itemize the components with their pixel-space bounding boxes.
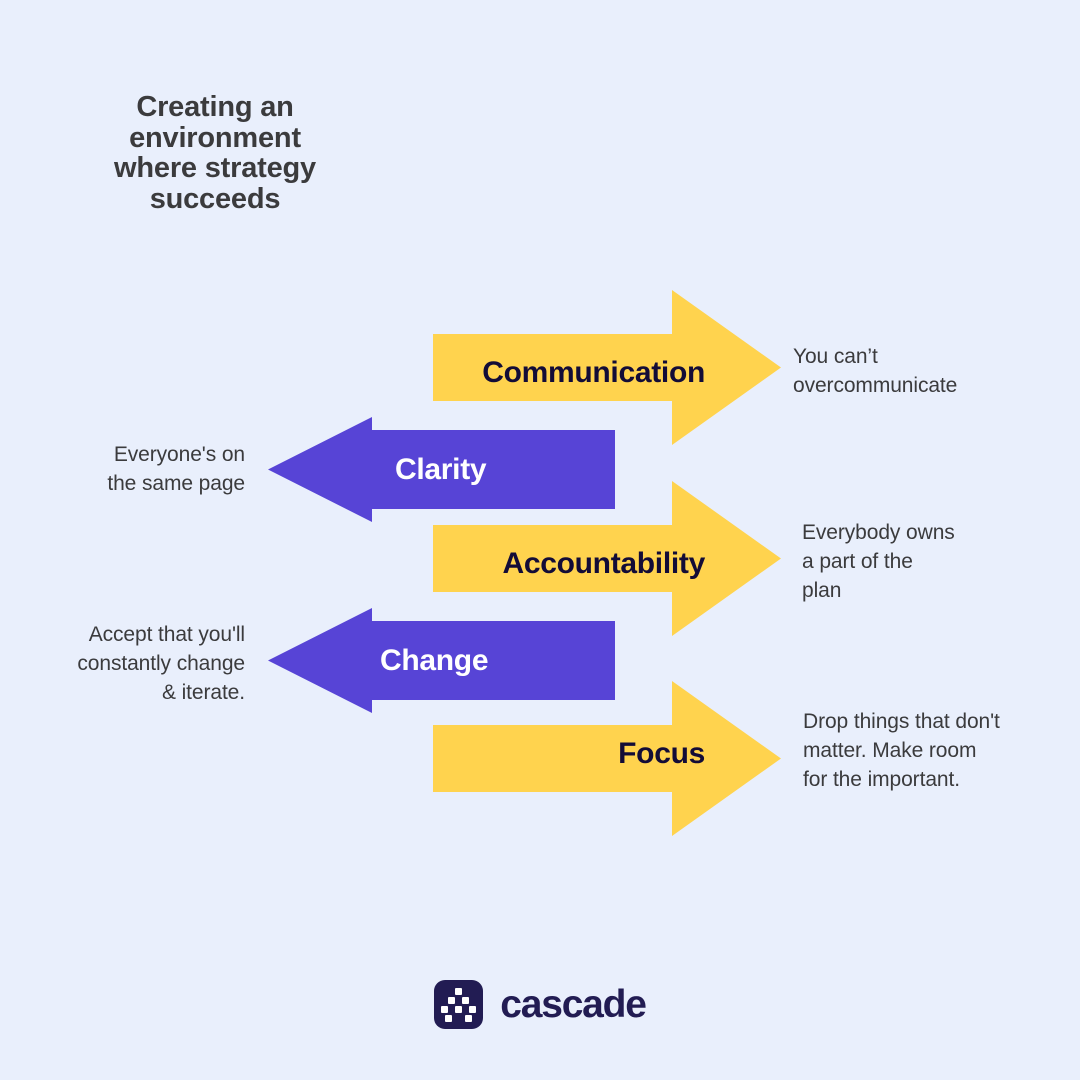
arrow-note-accountability: Everybody owns a part of the plan bbox=[802, 518, 1052, 605]
infographic-canvas: Creating an environment where strategy s… bbox=[0, 0, 1080, 1080]
arrow-note-change: Accept that you'll constantly change & i… bbox=[15, 620, 245, 707]
footer-logo[interactable]: cascade bbox=[0, 980, 1080, 1029]
arrow-note-focus: Drop things that don't matter. Make room… bbox=[803, 707, 1068, 794]
cascade-logo-mark-icon bbox=[434, 980, 483, 1029]
arrow-label-change: Change bbox=[380, 644, 615, 678]
arrow-label-focus: Focus bbox=[433, 737, 705, 771]
cascade-wordmark: cascade bbox=[500, 983, 646, 1027]
arrow-label-communication: Communication bbox=[433, 356, 705, 390]
page-title: Creating an environment where strategy s… bbox=[60, 92, 370, 214]
arrow-note-communication: You can’t overcommunicate bbox=[793, 342, 1043, 400]
arrow-note-clarity: Everyone's on the same page bbox=[15, 440, 245, 498]
arrow-label-accountability: Accountability bbox=[433, 547, 705, 581]
